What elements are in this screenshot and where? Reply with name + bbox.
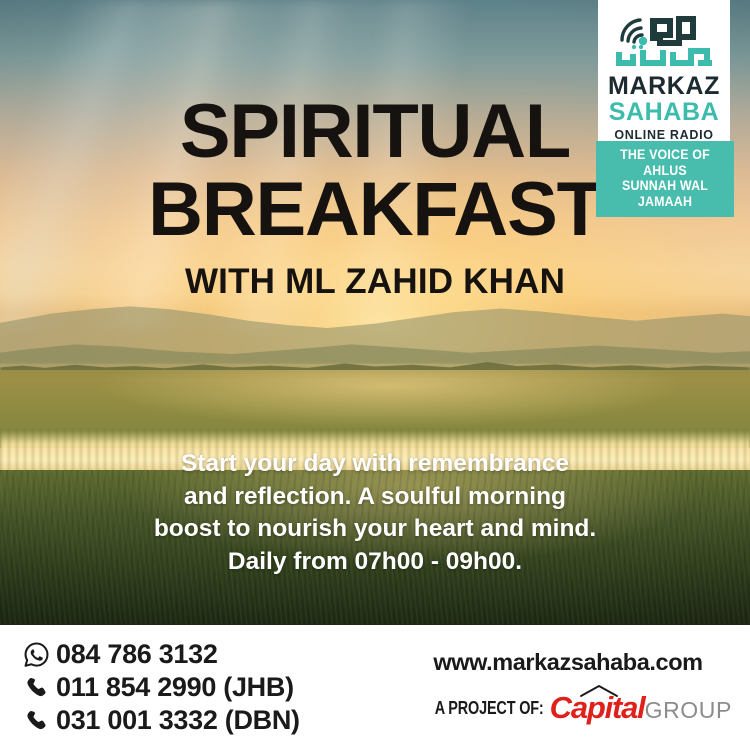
body-line-1: Start your day with remembrance — [40, 448, 710, 481]
sponsor-line: A PROJECT OF: CapitalGROUP — [400, 690, 736, 726]
website-url[interactable]: www.markazsahaba.com — [400, 649, 736, 676]
body-line-2: and reflection. A soulful morning — [40, 481, 710, 514]
banner-line-1: THE VOICE OF AHLUS — [605, 147, 725, 178]
body-line-3: boost to nourish your heart and mind. — [40, 513, 710, 546]
whatsapp-icon — [16, 641, 56, 668]
markaz-sahaba-logo-card: MARKAZ SAHABA ONLINE RADIO — [598, 0, 730, 151]
whatsapp-number: 084 786 3132 — [56, 639, 218, 670]
headline-subtitle: WITH ML ZAHID KHAN — [0, 262, 750, 302]
brand-tagline: ONLINE RADIO — [604, 128, 724, 142]
body-line-4: Daily from 07h00 - 09h00. — [40, 546, 710, 579]
radio-wave-arabic-calligraphy-icon — [610, 10, 718, 72]
website-and-sponsor: www.markazsahaba.com A PROJECT OF: Capit… — [400, 649, 750, 726]
sponsor-suffix: GROUP — [645, 697, 732, 723]
phone-icon — [16, 675, 56, 700]
phone-icon — [16, 708, 56, 733]
contact-row-phone-jhb[interactable]: 011 854 2990 (JHB) — [16, 671, 400, 704]
project-of-label: A PROJECT OF: — [435, 697, 544, 719]
contact-footer: 084 786 3132 011 854 2990 (JHB) 031 001 … — [0, 625, 750, 750]
contact-row-phone-dbn[interactable]: 031 001 3332 (DBN) — [16, 704, 400, 737]
contact-list: 084 786 3132 011 854 2990 (JHB) 031 001 … — [0, 638, 400, 737]
brand-banner: THE VOICE OF AHLUS SUNNAH WAL JAMAAH — [596, 141, 734, 217]
brand-name-bottom: SAHABA — [604, 99, 724, 125]
capital-group-logo: CapitalGROUP — [550, 690, 732, 726]
brand-name-top: MARKAZ — [604, 73, 724, 99]
promo-poster: SPIRITUAL BREAKFAST WITH ML ZAHID KHAN S… — [0, 0, 750, 750]
contact-row-whatsapp[interactable]: 084 786 3132 — [16, 638, 400, 671]
roof-icon — [579, 684, 619, 702]
phone-number-jhb: 011 854 2990 (JHB) — [56, 672, 294, 703]
phone-number-dbn: 031 001 3332 (DBN) — [56, 705, 300, 736]
poster-body-copy: Start your day with remembrance and refl… — [40, 448, 710, 578]
banner-line-2: SUNNAH WAL JAMAAH — [605, 178, 725, 209]
